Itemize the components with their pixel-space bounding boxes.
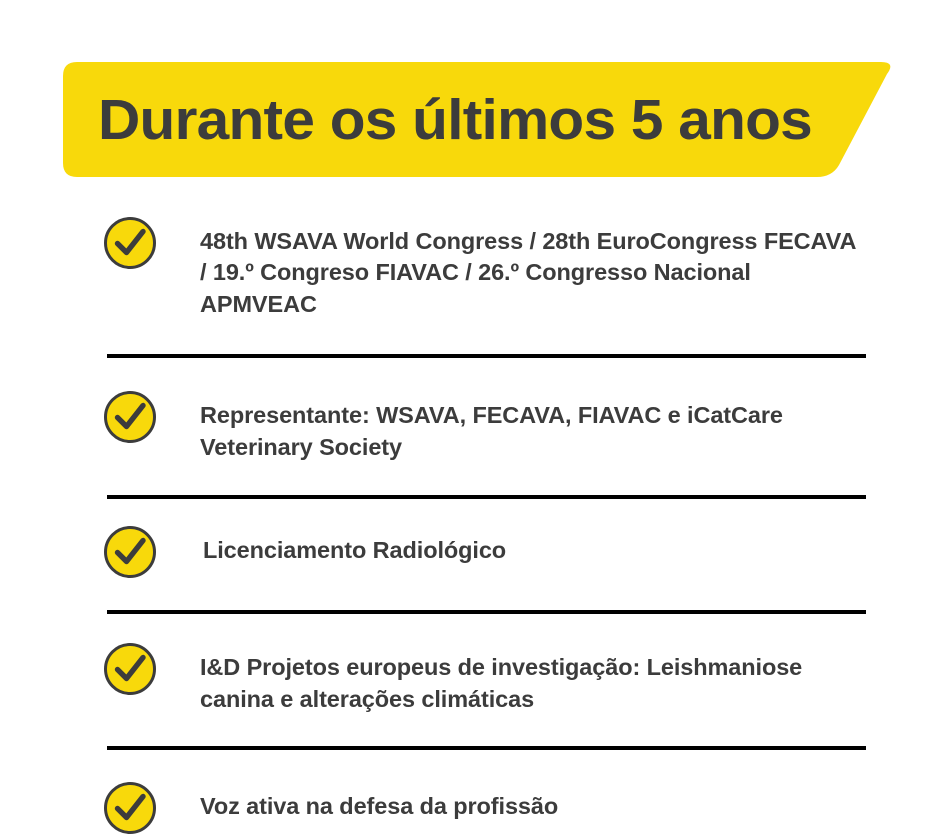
page-title: Durante os últimos 5 anos: [98, 90, 812, 148]
list-item: 48th WSAVA World Congress / 28th EuroCon…: [0, 196, 940, 320]
check-circle-icon: [103, 525, 157, 579]
list-item-label: Licenciamento Radiológico: [203, 525, 506, 566]
list-item: Licenciamento Radiológico: [0, 499, 940, 579]
list-item: Voz ativa na defesa da profissão: [0, 750, 940, 835]
list-item-label: Representante: WSAVA, FECAVA, FIAVAC e i…: [200, 390, 866, 463]
check-circle-icon: [103, 216, 157, 270]
list-item-label: 48th WSAVA World Congress / 28th EuroCon…: [200, 216, 866, 320]
list-item: Representante: WSAVA, FECAVA, FIAVAC e i…: [0, 358, 940, 463]
list-item: I&D Projetos europeus de investigação: L…: [0, 614, 940, 715]
header-banner: Durante os últimos 5 anos: [63, 62, 896, 177]
check-circle-icon: [103, 781, 157, 835]
achievements-checklist: 48th WSAVA World Congress / 28th EuroCon…: [0, 196, 940, 835]
check-circle-icon: [103, 642, 157, 696]
check-circle-icon: [103, 390, 157, 444]
list-item-label: I&D Projetos europeus de investigação: L…: [200, 642, 866, 715]
